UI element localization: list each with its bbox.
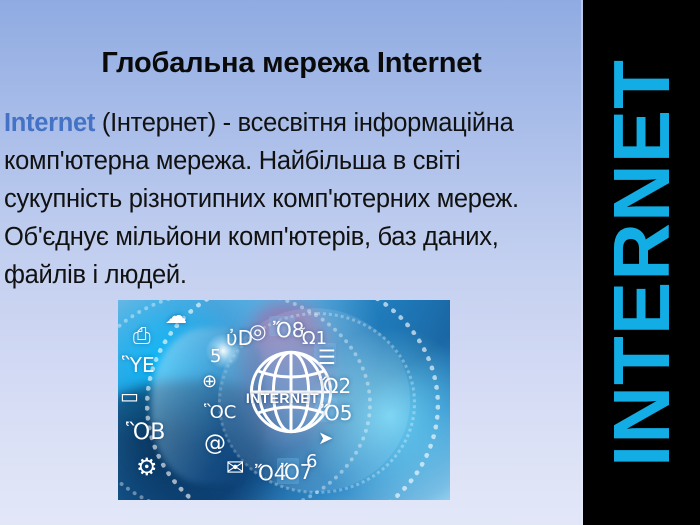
cursor-pointer-icon: ➤ bbox=[318, 430, 333, 448]
server-stack-icon: ☰ bbox=[318, 347, 336, 367]
cloud-upload-icon: ☁ bbox=[165, 306, 187, 328]
contact-photo-icon: ὛE bbox=[122, 355, 155, 375]
envelope-icon: ✉ bbox=[226, 458, 244, 480]
at-sign-icon: @ bbox=[204, 433, 226, 455]
printer-icon: ⎙ bbox=[133, 326, 151, 348]
slide-title: Глобальна мережа Internet bbox=[0, 48, 583, 78]
gears-icon: ⚙ bbox=[136, 455, 158, 479]
slide-canvas: Глобальна мережа Internet Internet (Інте… bbox=[0, 0, 700, 525]
internet-concept-image: INTERNET ☁⎙ὛE▭ὋB⚙ὐD◎Ὄ8Ὦ1὆5⊕ὋC@✉Ὄ4Ὄ7὏6➤Ὄ5… bbox=[118, 300, 450, 500]
shopping-cart-icon: Ὥ2 bbox=[319, 376, 351, 396]
www-globe-icon: ⊕ bbox=[202, 373, 217, 391]
laptop-icon: ὋB bbox=[126, 422, 165, 444]
wifi-router-icon: ὏6 bbox=[306, 453, 317, 471]
side-band: INTERNET bbox=[583, 0, 700, 525]
target-icon: ◎ bbox=[249, 321, 266, 341]
network-users-icon: ὆5 bbox=[210, 348, 221, 366]
briefcase-icon: ὋC bbox=[204, 404, 236, 422]
tablet-phone-icon: ▭ bbox=[120, 386, 139, 406]
globe-label: INTERNET bbox=[233, 390, 333, 406]
side-band-title: INTERNET bbox=[602, 59, 682, 467]
internet-keyword: Internet bbox=[4, 109, 95, 137]
calendar-icon: Ὄ5 bbox=[321, 403, 353, 423]
slide-body-text: Internet (Інтернет) - всесвітня інформац… bbox=[4, 104, 579, 294]
